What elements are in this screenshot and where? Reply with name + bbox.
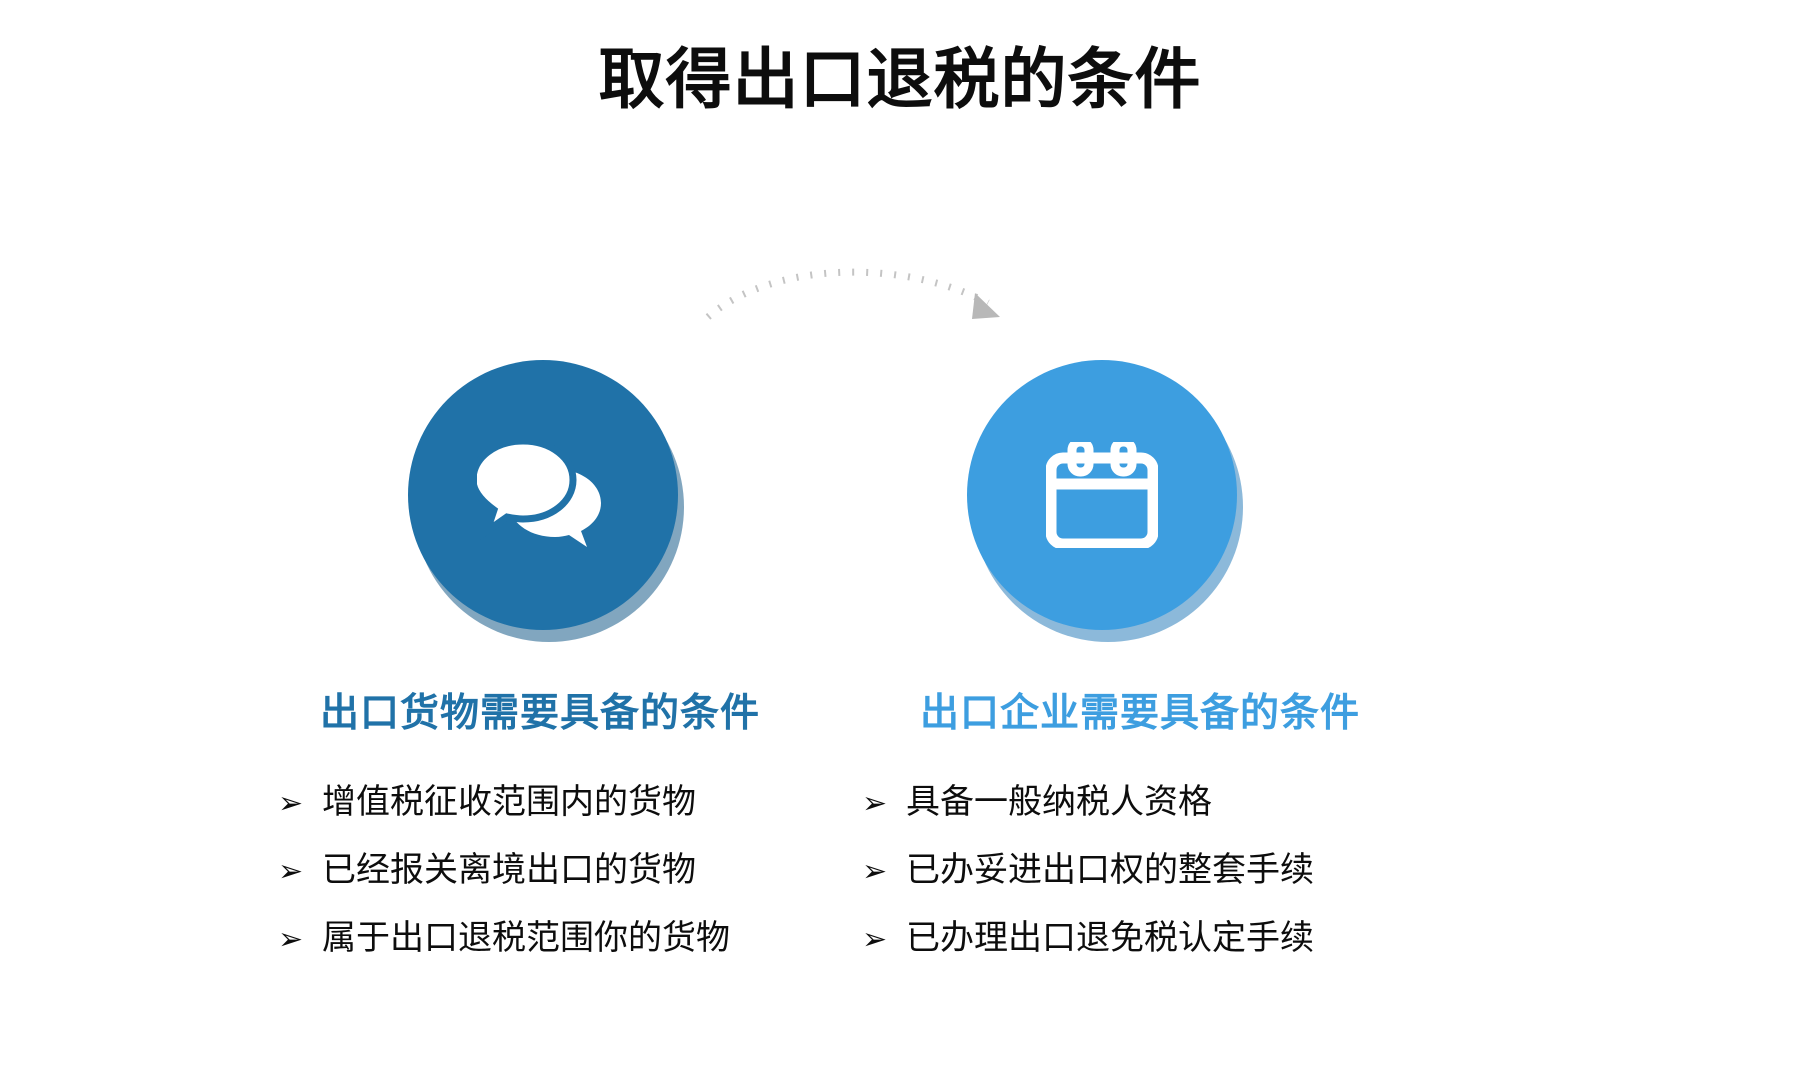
chevron-bullet-icon: ➢	[862, 922, 906, 958]
chevron-bullet-icon: ➢	[862, 854, 906, 890]
column-export-enterprise: 出口企业需要具备的条件 ➢ 具备一般纳税人资格 ➢ 已办妥进出口权的整套手续 ➢…	[790, 360, 1490, 985]
badge-export-goods[interactable]	[408, 360, 678, 630]
list-item-label: 已办理出口退免税认定手续	[906, 918, 1314, 959]
list-item: ➢ 已办妥进出口权的整套手续	[862, 850, 1490, 891]
badge-circle-export-enterprise[interactable]	[967, 360, 1237, 630]
slide-canvas: 取得出口退税的条件	[0, 0, 1800, 1072]
list-item-label: 具备一般纳税人资格	[906, 782, 1212, 823]
list-item: ➢ 已办理出口退免税认定手续	[862, 918, 1490, 959]
badge-export-enterprise[interactable]	[967, 360, 1237, 630]
chevron-bullet-icon: ➢	[278, 922, 322, 958]
list-item-label: 属于出口退税范围你的货物	[322, 918, 730, 959]
chevron-bullet-icon: ➢	[278, 854, 322, 890]
chevron-bullet-icon: ➢	[862, 786, 906, 822]
column-heading-export-goods: 出口货物需要具备的条件	[190, 682, 890, 738]
list-item-label: 增值税征收范围内的货物	[322, 782, 696, 823]
chevron-bullet-icon: ➢	[278, 786, 322, 822]
list-item-label: 已经报关离境出口的货物	[322, 850, 696, 891]
calendar-icon	[1046, 442, 1158, 548]
column-heading-export-enterprise: 出口企业需要具备的条件	[790, 682, 1490, 738]
list-item-label: 已办妥进出口权的整套手续	[906, 850, 1314, 891]
column-export-goods: 出口货物需要具备的条件 ➢ 增值税征收范围内的货物 ➢ 已经报关离境出口的货物 …	[190, 360, 890, 985]
columns-container: 出口货物需要具备的条件 ➢ 增值税征收范围内的货物 ➢ 已经报关离境出口的货物 …	[0, 0, 1800, 1072]
list-item: ➢ 具备一般纳税人资格	[862, 782, 1490, 823]
badge-circle-export-goods[interactable]	[408, 360, 678, 630]
bullet-list-export-enterprise: ➢ 具备一般纳税人资格 ➢ 已办妥进出口权的整套手续 ➢ 已办理出口退免税认定手…	[862, 782, 1490, 958]
speech-bubbles-icon	[477, 439, 609, 551]
